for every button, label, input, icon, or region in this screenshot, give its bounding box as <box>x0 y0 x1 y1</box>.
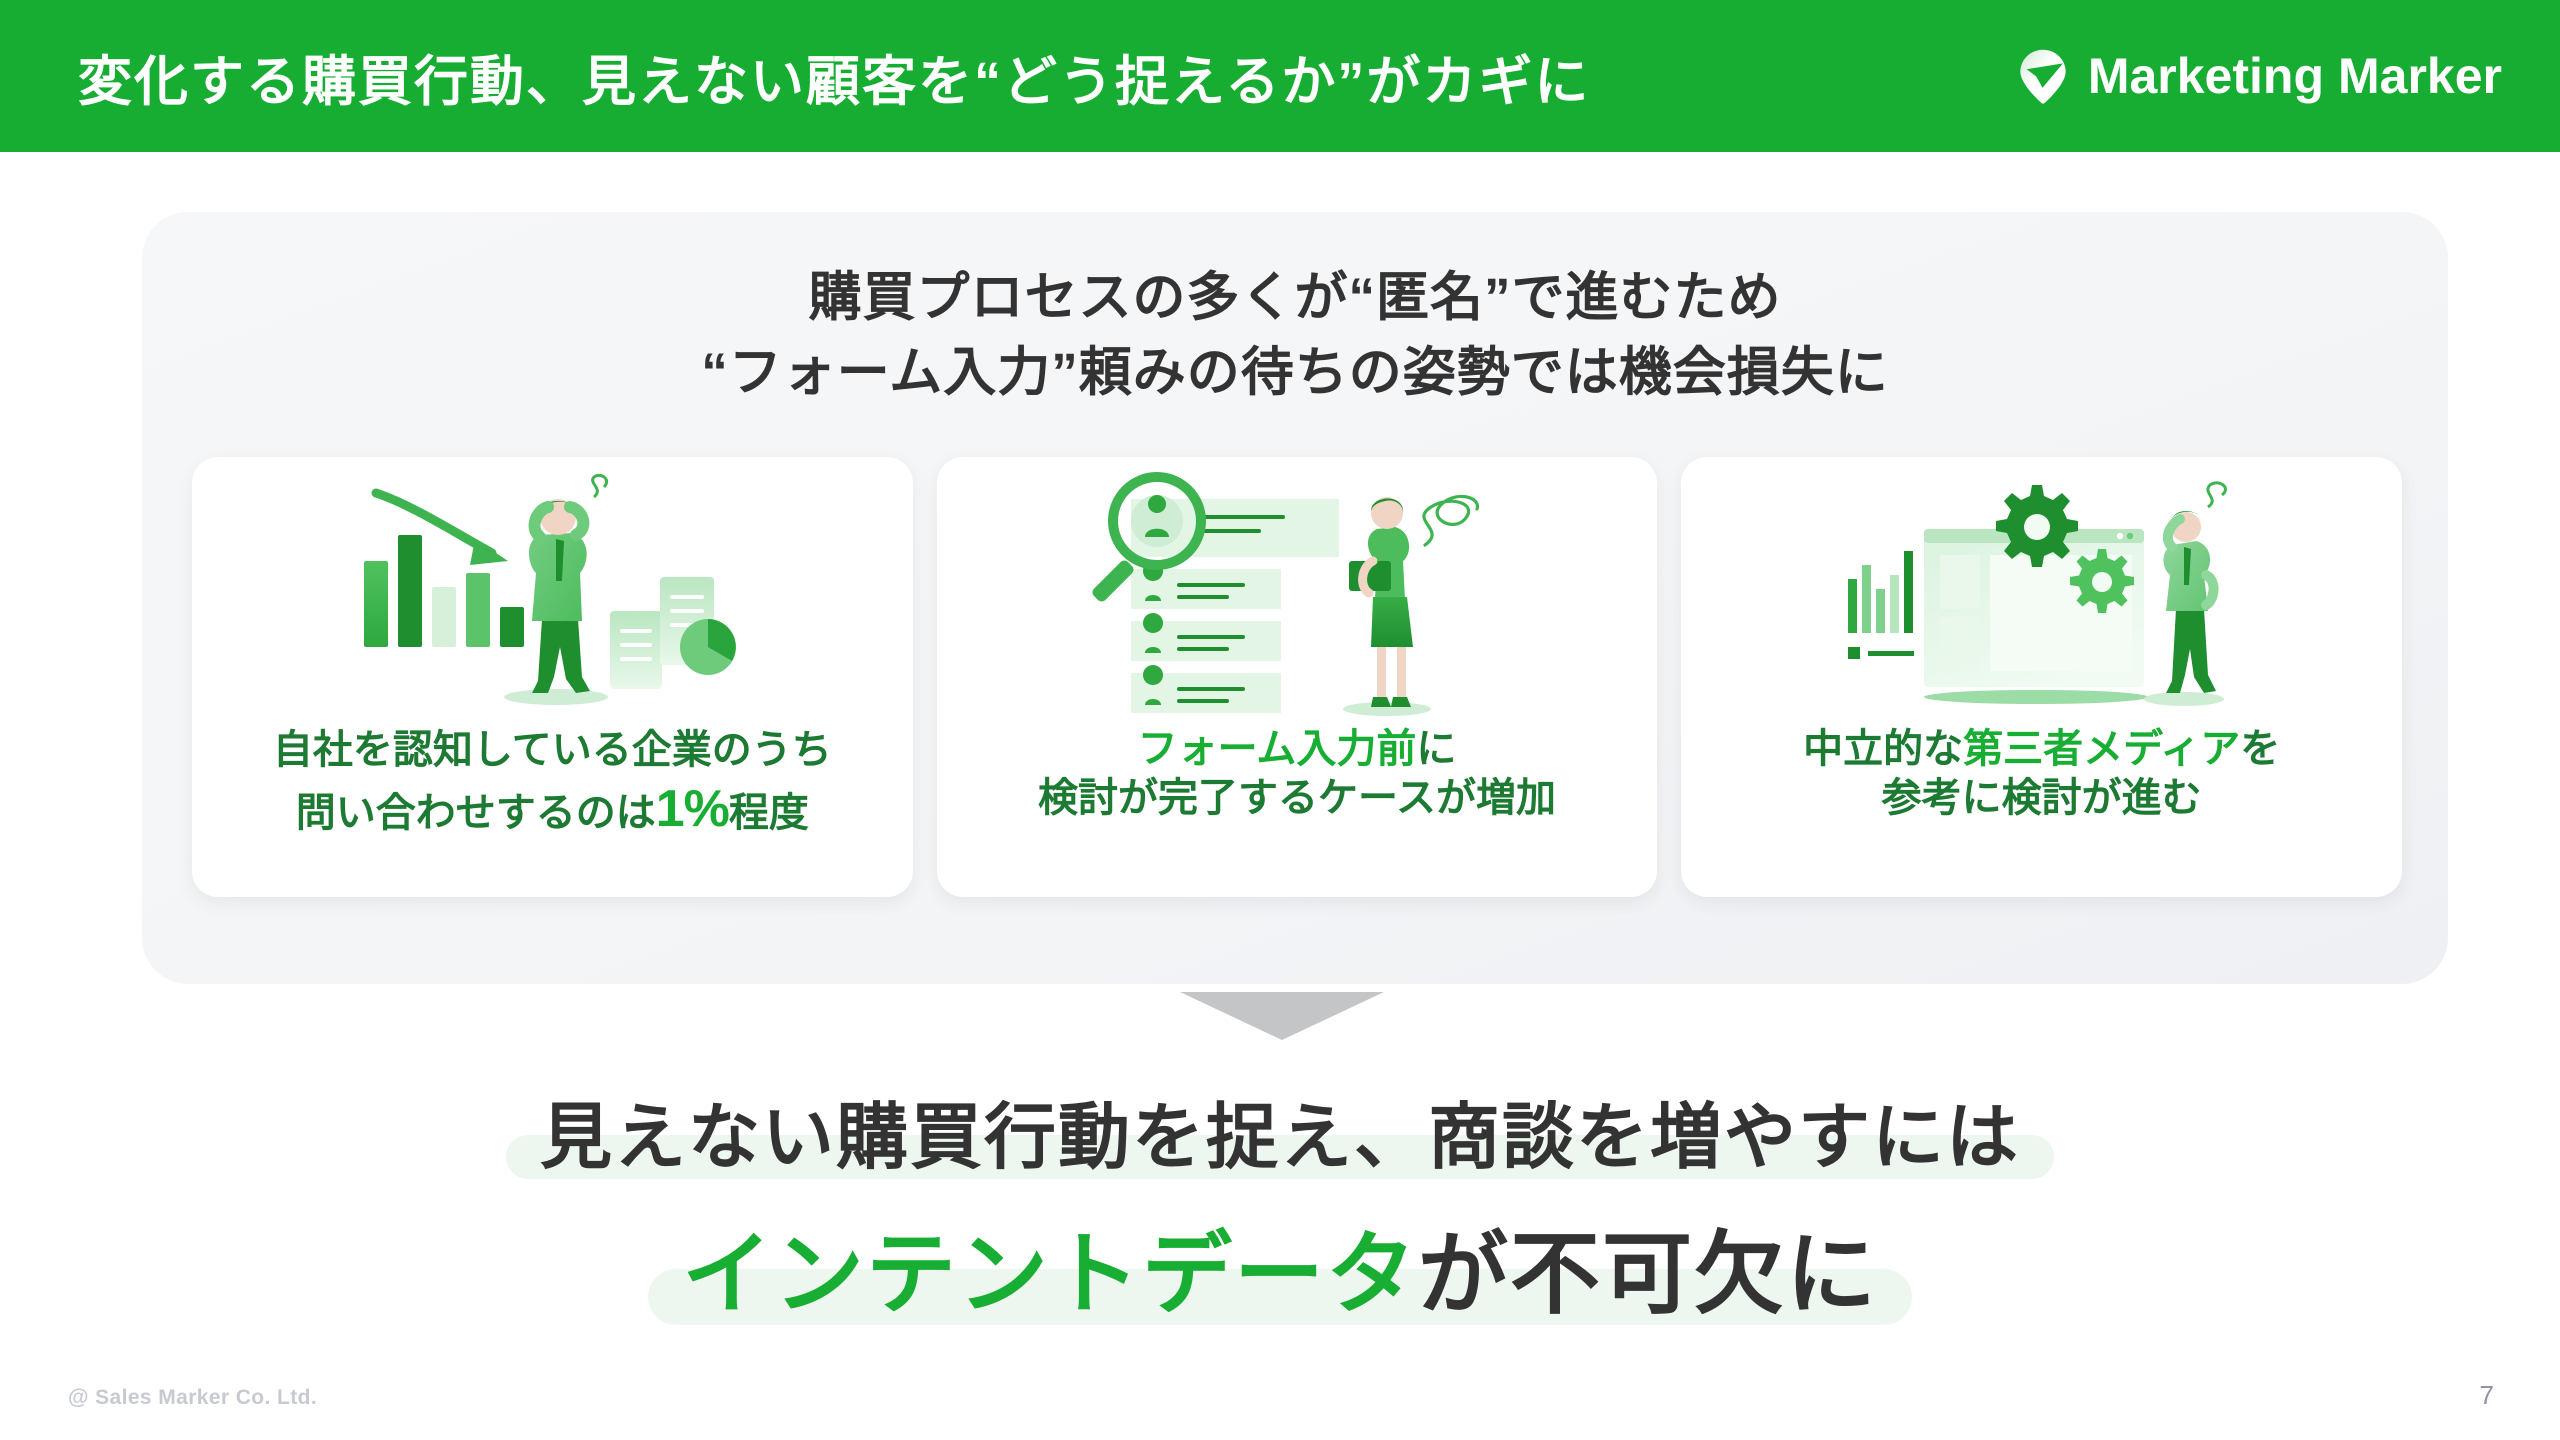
insight-card-3-caption-highlight: 第三者メディア <box>1963 727 2240 771</box>
insight-card-1[interactable]: 自社を認知している企業のうち 問い合わせするのは1%程度 <box>192 457 913 897</box>
insight-card-2-caption-line-1-b: に <box>1416 727 1456 771</box>
insight-card-1-caption-line-1: 自社を認知している企業のうち <box>208 725 897 776</box>
conclusion-line-2-text: インテントデータが不可欠に <box>682 1225 1878 1325</box>
conclusion-line-2-rest: が不可欠に <box>1418 1225 1878 1325</box>
insight-card-2-caption: フォーム入力前に 検討が完了するケースが増加 <box>937 725 1658 823</box>
brand-logo: MarketingMarker <box>2014 47 2502 105</box>
location-marker-icon <box>2014 47 2072 105</box>
panel-heading-line-1: 購買プロセスの多くが“匿名”で進むため <box>142 260 2448 335</box>
brand-name-word-1: Marketing <box>2088 48 2324 104</box>
magnifier-contact-list-woman-illustration <box>937 457 1658 725</box>
content-panel: 購買プロセスの多くが“匿名”で進むため “フォーム入力”頼みの待ちの姿勢では機会… <box>142 212 2448 984</box>
brand-name-word-2: Marker <box>2338 48 2502 104</box>
insight-card-2-caption-line-2: 検討が完了するケースが増加 <box>953 774 1642 823</box>
insight-card-3-caption: 中立的な第三者メディアを 参考に検討が進む <box>1681 725 2402 823</box>
insight-card-3-caption-line-2: 参考に検討が進む <box>1697 774 2386 823</box>
page-number: 7 <box>2480 1380 2494 1411</box>
brand-name: MarketingMarker <box>2088 47 2502 105</box>
insight-card-2-caption-line-1: フォーム入力前に <box>953 725 1642 774</box>
panel-heading-line-2: “フォーム入力”頼みの待ちの姿勢では機会損失に <box>142 335 2448 410</box>
conclusion-line-1: 見えない購買行動を捉え、商談を増やすには <box>540 1078 2020 1183</box>
insight-card-1-percent-value: 1% <box>656 780 729 838</box>
panel-heading: 購買プロセスの多くが“匿名”で進むため “フォーム入力”頼みの待ちの姿勢では機会… <box>142 260 2448 411</box>
insight-card-3-caption-line-1-b: を <box>2240 727 2280 771</box>
insight-card-row: 自社を認知している企業のうち 問い合わせするのは1%程度 <box>192 457 2402 897</box>
insight-card-1-caption-line-2: 問い合わせするのは1%程度 <box>208 776 897 843</box>
browser-window-gears-person-illustration <box>1681 457 2402 725</box>
conclusion-line-2: インテントデータが不可欠に <box>682 1201 1878 1331</box>
insight-card-3-caption-line-1: 中立的な第三者メディアを <box>1697 725 2386 774</box>
insight-card-1-caption: 自社を認知している企業のうち 問い合わせするのは1%程度 <box>192 725 913 843</box>
insight-card-2[interactable]: フォーム入力前に 検討が完了するケースが増加 <box>937 457 1658 897</box>
footer-copyright: @ Sales Marker Co. Ltd. <box>68 1386 317 1410</box>
declining-bar-chart-stressed-person-illustration <box>192 457 913 725</box>
conclusion-block: 見えない購買行動を捉え、商談を増やすには インテントデータが不可欠に <box>0 1078 2560 1331</box>
insight-card-1-caption-line-2-b: 程度 <box>729 791 809 835</box>
down-triangle-icon <box>1180 992 1384 1040</box>
page-title: 変化する購買行動、見えない顧客を“どう捉えるか”がカギに <box>78 37 1590 116</box>
conclusion-line-1-text: 見えない購買行動を捉え、商談を増やすには <box>540 1098 2020 1178</box>
insight-card-2-caption-highlight: フォーム入力前 <box>1138 727 1417 771</box>
insight-card-3-caption-line-1-a: 中立的な <box>1803 727 1963 771</box>
insight-card-3[interactable]: 中立的な第三者メディアを 参考に検討が進む <box>1681 457 2402 897</box>
insight-card-1-caption-line-2-a: 問い合わせするのは <box>296 791 656 835</box>
slide-header-bar: 変化する購買行動、見えない顧客を“どう捉えるか”がカギに MarketingMa… <box>0 0 2560 152</box>
conclusion-keyword: インテントデータ <box>682 1225 1418 1325</box>
